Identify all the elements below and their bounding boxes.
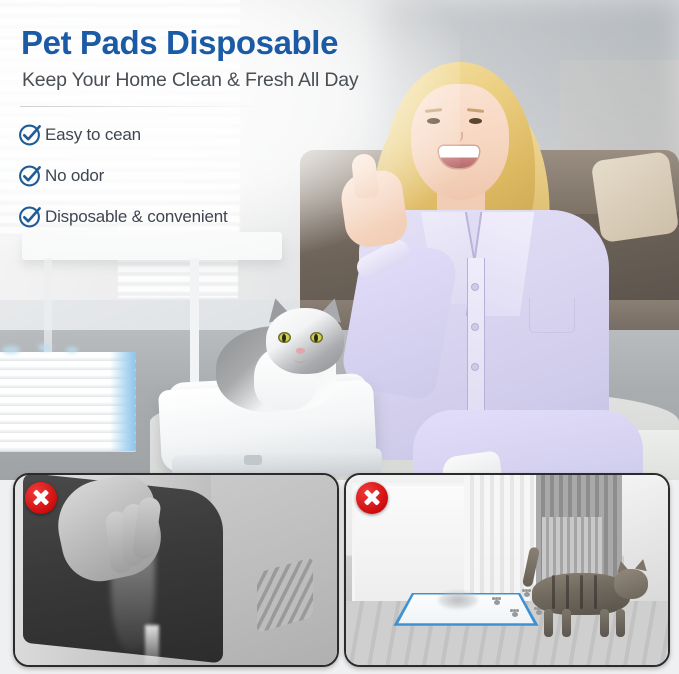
- panel-washing-litter-box: [13, 473, 339, 667]
- cat-pupil-left: [282, 334, 286, 342]
- panel-cat-and-pad: [344, 473, 670, 667]
- tabby-cat: [522, 547, 658, 643]
- pad-stain: [438, 591, 478, 609]
- benefit-label: Disposable & convenient: [45, 207, 228, 227]
- check-circle-icon: [18, 123, 41, 146]
- benefits-list: Easy to cean No odor D: [18, 114, 228, 237]
- paw-print: [492, 597, 501, 605]
- cat-mouth: [294, 354, 307, 363]
- x-badge-icon: [25, 482, 57, 514]
- page-subtitle: Keep Your Home Clean & Fresh All Day: [22, 69, 358, 92]
- check-circle-icon: [18, 164, 41, 187]
- list-item: No odor: [18, 155, 228, 196]
- divider: [20, 106, 272, 107]
- room-scene: [346, 475, 668, 665]
- cat-head: [266, 308, 344, 374]
- running-water: [145, 625, 159, 665]
- cat-in-litter-box: [216, 298, 350, 410]
- paw-print: [510, 609, 519, 617]
- x-badge-icon: [356, 482, 388, 514]
- pajama-pocket: [529, 298, 575, 333]
- wash-scene: [15, 475, 337, 665]
- product-poster: Pet Pads Disposable Keep Your Home Clean…: [0, 0, 679, 674]
- eye-right: [469, 118, 482, 124]
- cat-tail: [522, 546, 540, 587]
- pajama-button: [472, 284, 478, 290]
- pajama-button: [472, 364, 478, 370]
- cat-pupil-right: [314, 334, 318, 342]
- pajama-button: [472, 324, 478, 330]
- page-title: Pet Pads Disposable: [21, 24, 338, 62]
- litter-box-handle: [244, 455, 262, 465]
- pad-stack: [0, 352, 136, 456]
- list-item: Disposable & convenient: [18, 196, 228, 237]
- cat-head: [614, 569, 648, 599]
- check-circle-icon: [18, 205, 41, 228]
- benefit-label: No odor: [45, 166, 104, 186]
- comparison-panels: [0, 473, 679, 674]
- benefit-label: Easy to cean: [45, 125, 141, 145]
- list-item: Easy to cean: [18, 114, 228, 155]
